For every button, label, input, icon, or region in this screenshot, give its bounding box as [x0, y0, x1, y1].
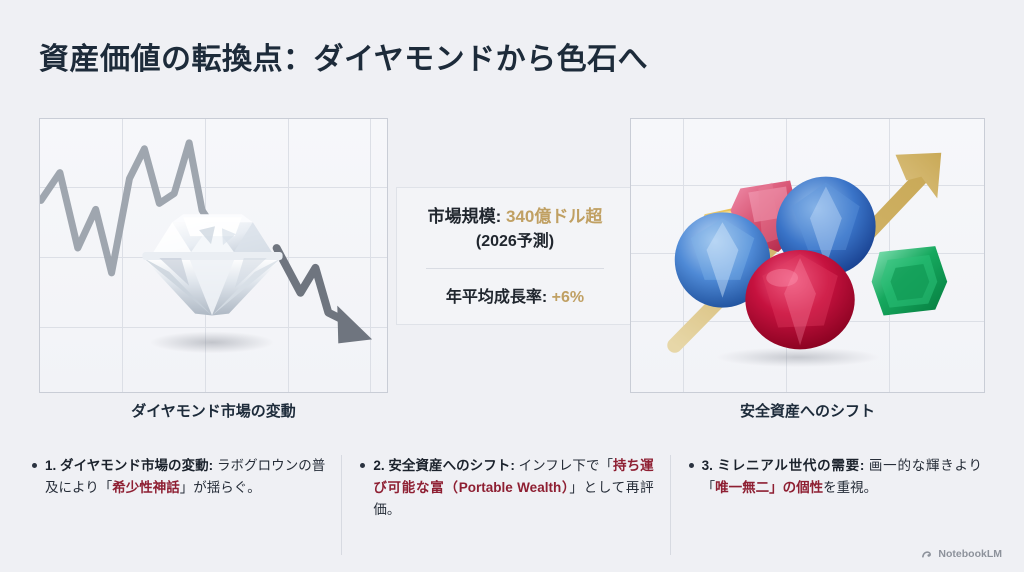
page-title: 資産価値の転換点：ダイヤモンドから色石へ: [39, 34, 648, 78]
bullet-lead-3: 3. ミレニアル世代の需要:: [702, 458, 865, 473]
bullet-column-1: 1. ダイヤモンド市場の変動: ラボグロウンの普及により「希少性神話」が揺らぐ。: [26, 455, 341, 555]
bullet-lead-2: 2. 安全資産へのシフト:: [373, 458, 514, 473]
watermark-label: NotebookLM: [938, 548, 1002, 560]
cagr-value: +6%: [552, 289, 584, 306]
caption-gemstones: 安全資産へのシフト: [630, 400, 985, 421]
slide-root: 資産価値の転換点：ダイヤモンドから色石へ: [0, 0, 1024, 572]
rising-trend-arrow-icon: [631, 119, 984, 392]
notebooklm-watermark: NotebookLM: [921, 548, 1002, 560]
bullet-text-2: 2. 安全資産へのシフト: インフレ下で「持ち運び可能な富（Portable W…: [373, 455, 653, 521]
market-size-value: 340億ドル超: [506, 207, 602, 226]
market-size-label: 市場規模:: [428, 207, 506, 226]
market-size-note: (2026予測): [428, 230, 603, 253]
bullet-highlight-3: 唯一無二」の個性: [715, 480, 823, 495]
chart-panel-diamond: [39, 118, 388, 393]
chart-panel-gemstones: [630, 118, 985, 393]
list-item: 2. 安全資産へのシフト: インフレ下で「持ち運び可能な富（Portable W…: [360, 455, 653, 521]
bullet-dot-icon: [360, 463, 365, 468]
cagr-row: 年平均成長率: +6%: [446, 283, 584, 307]
list-item: 1. ダイヤモンド市場の変動: ラボグロウンの普及により「希少性神話」が揺らぐ。: [32, 455, 325, 499]
declining-trend-line-icon: [40, 119, 387, 392]
caption-diamond: ダイヤモンド市場の変動: [39, 400, 388, 421]
notebooklm-logo-icon: [921, 549, 933, 560]
bullet-highlight-1: 希少性神話: [112, 480, 180, 495]
bullet-column-2: 2. 安全資産へのシフト: インフレ下で「持ち運び可能な富（Portable W…: [341, 455, 669, 555]
bullet-column-3: 3. ミレニアル世代の需要: 画一的な輝きより「唯一無二」の個性を重視。: [670, 455, 998, 555]
bullet-dot-icon: [32, 463, 37, 468]
bullet-list: 1. ダイヤモンド市場の変動: ラボグロウンの普及により「希少性神話」が揺らぐ。…: [26, 455, 998, 555]
bullet-text-1: 1. ダイヤモンド市場の変動: ラボグロウンの普及により「希少性神話」が揺らぐ。: [45, 455, 325, 499]
bullet-lead-1: 1. ダイヤモンド市場の変動:: [45, 458, 213, 473]
stats-divider: [426, 268, 604, 269]
bullet-text-3: 3. ミレニアル世代の需要: 画一的な輝きより「唯一無二」の個性を重視。: [702, 455, 982, 499]
stats-box: 市場規模: 340億ドル超 (2026予測) 年平均成長率: +6%: [396, 187, 634, 325]
cagr-label: 年平均成長率:: [446, 289, 552, 306]
bullet-body-before-2: インフレ下で「: [515, 458, 613, 473]
bullet-dot-icon: [689, 463, 694, 468]
bullet-body-after-1: 」が揺らぐ。: [180, 480, 261, 495]
market-size-row: 市場規模: 340億ドル超 (2026予測): [420, 205, 611, 253]
list-item: 3. ミレニアル世代の需要: 画一的な輝きより「唯一無二」の個性を重視。: [689, 455, 982, 499]
bullet-body-after-3: を重視。: [823, 480, 877, 495]
